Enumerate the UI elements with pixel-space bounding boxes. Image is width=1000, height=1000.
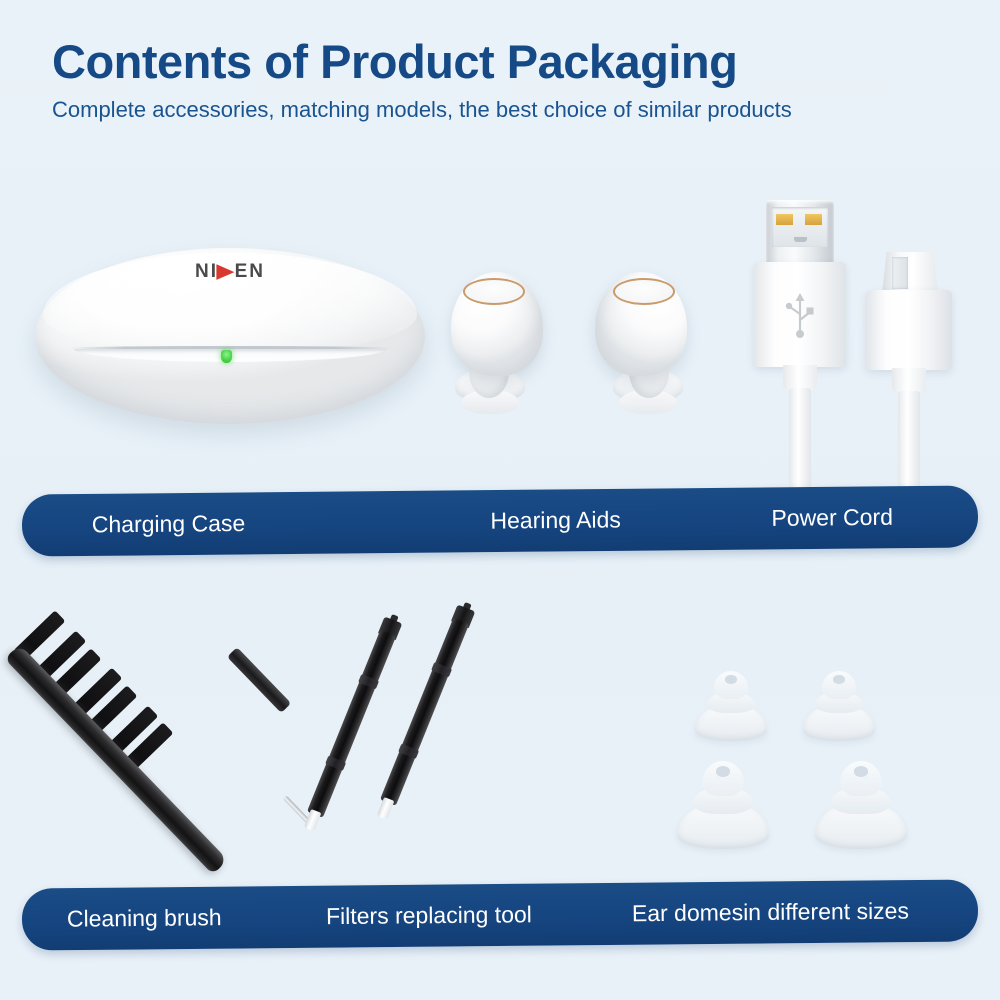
- usb-a-cable: [789, 388, 811, 492]
- micro-usb-tip: [882, 252, 938, 294]
- aid-copper-ring: [463, 278, 525, 305]
- micro-usb-connector: [866, 252, 952, 492]
- brush-taper: [227, 647, 291, 713]
- filter-tool-white-tip: [377, 797, 395, 820]
- hearing-aid-left: [445, 272, 550, 422]
- ear-domes-image: [675, 665, 930, 860]
- power-cord-image: [740, 200, 970, 492]
- usb-a-notch: [794, 237, 807, 242]
- page-title: Contents of Product Packaging: [52, 34, 737, 89]
- usb-a-connector: [754, 200, 846, 492]
- ear-dome-large: [815, 761, 907, 849]
- usb-gold-pin: [805, 214, 822, 225]
- dome-bore-hole: [833, 675, 845, 683]
- label-charging-case: Charging Case: [92, 510, 246, 538]
- dome-bore-hole: [854, 766, 869, 777]
- filters-replacing-tool-image: [330, 600, 620, 830]
- cleaning-brush-image: [0, 585, 330, 870]
- usb-a-metal-shell: [766, 200, 834, 266]
- page-subtitle: Complete accessories, matching models, t…: [52, 97, 792, 123]
- dome-bore-hole: [725, 675, 737, 683]
- micro-usb-housing: [866, 290, 952, 370]
- aid-copper-ring: [613, 278, 675, 305]
- hearing-aid-right: [588, 272, 693, 422]
- label-hearing-aids: Hearing Aids: [490, 506, 621, 534]
- infographic-page: Contents of Product Packaging Complete a…: [0, 0, 1000, 1000]
- dome-bore-hole: [716, 766, 731, 777]
- label-bar-row-1: Charging Case Hearing Aids Power Cord: [22, 485, 979, 556]
- logo-prefix: NI: [195, 261, 218, 282]
- label-filters-tool: Filters replacing tool: [326, 901, 532, 930]
- label-ear-domes: Ear domesin different sizes: [632, 898, 909, 928]
- logo-arrow-icon: ▶: [217, 260, 236, 283]
- ear-dome-small: [803, 671, 875, 741]
- ear-dome-small: [695, 671, 767, 741]
- filter-tool-rod: [380, 618, 469, 806]
- micro-usb-inner-contacts: [892, 257, 908, 289]
- charging-led-indicator: [221, 350, 232, 363]
- micro-usb-cable: [898, 391, 920, 492]
- charging-case-image: NI▶EN: [35, 248, 425, 424]
- label-bar-row-2: Cleaning brush Filters replacing tool Ea…: [22, 879, 979, 950]
- usb-trident-icon: [783, 292, 817, 340]
- label-power-cord: Power Cord: [771, 504, 893, 532]
- brand-logo: NI▶EN: [35, 260, 425, 283]
- ear-dome-large: [677, 761, 769, 849]
- usb-gold-pin: [776, 214, 793, 225]
- logo-suffix: EN: [235, 261, 265, 282]
- label-cleaning-brush: Cleaning brush: [67, 904, 222, 932]
